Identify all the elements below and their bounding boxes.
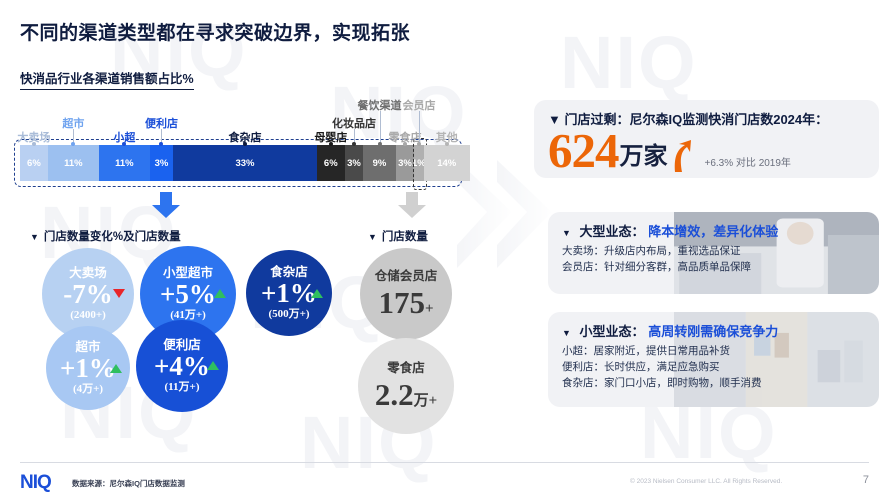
trend-up-icon [110, 364, 122, 373]
chart-subtitle: 快消品行业各渠道销售额占比% [20, 68, 194, 90]
bar-label-其他: 其他 [436, 129, 458, 145]
card-line: 食杂店：家门口小店，即时购物，顺手消费 [562, 376, 865, 392]
bar-segment-超市[interactable]: 11% [48, 145, 99, 181]
bar-segment-value: 3% [155, 158, 169, 169]
bubble-食杂店[interactable]: 食杂店+1%(500万+) [246, 250, 332, 336]
bubble-name: 大卖场 [69, 267, 107, 280]
label-connector-dot [159, 142, 163, 146]
bar-label-小超: 小超 [113, 129, 135, 145]
insight-card-large-format: ▼ 大型业态： 降本增效，差异化体验 大卖场：升级店内布局，重视选品保证 会员店… [548, 212, 879, 294]
bubble-name: 超市 [75, 341, 100, 354]
section-heading-store-count: ▼门店数量 [368, 228, 428, 244]
trend-up-icon [207, 361, 219, 370]
bar-segment-value: 33% [235, 158, 254, 169]
label-connector-dot [378, 142, 382, 146]
card-line: 会员店：针对细分客群，高品质单品保障 [562, 260, 865, 276]
bar-label-超市: 超市 [62, 115, 84, 131]
gray-bubble-unit: 万+ [414, 393, 438, 409]
bar-label-母婴店: 母婴店 [314, 129, 347, 145]
card-content-large-format: ▼ 大型业态： 降本增效，差异化体验 大卖场：升级店内布局，重视选品保证 会员店… [548, 212, 879, 285]
hero-note: +6.3% 对比 2019年 [705, 154, 791, 169]
hero-card-store-surplus: ▼ 门店过剩：尼尔森IQ监测快消门店数2024年： 624 万家 +6.3% 对… [534, 100, 879, 178]
bubble-value: -7% [63, 279, 113, 310]
hero-card-value-row: 624 万家 +6.3% 对比 2019年 [534, 128, 879, 175]
bar-segment-value: 3% [398, 158, 412, 169]
label-connector-dot [417, 142, 421, 146]
up-trend-arrow-icon [669, 139, 695, 173]
watermark-text: NIQ [560, 20, 698, 105]
bar-segment-小超[interactable]: 11% [99, 145, 150, 181]
bar-segment-value: 3% [347, 158, 361, 169]
bar-label-大卖场: 大卖场 [17, 129, 50, 145]
niq-logo: NIQ [20, 472, 51, 494]
bubble-value: +5% [160, 279, 216, 310]
trend-down-icon [113, 289, 125, 298]
bubble-便利店[interactable]: 便利店+4%(11万+) [136, 320, 228, 412]
bar-segment-化妆品店[interactable]: 3% [345, 145, 364, 181]
bubble-value: +1% [60, 353, 116, 384]
bar-label-食杂店: 食杂店 [229, 129, 262, 145]
label-connector-dot [352, 142, 356, 146]
bar-segment-value: 14% [437, 158, 456, 169]
bar-segment-餐饮渠道[interactable]: 9% [363, 145, 395, 181]
label-connector-line [419, 111, 420, 145]
gray-bubble-unit: + [425, 301, 434, 317]
bar-segment-其他[interactable]: 14% [424, 145, 470, 181]
bar-segment-value: 6% [27, 158, 41, 169]
bubble-sublabel: (500万+) [268, 309, 309, 320]
bubble-value: +4% [154, 351, 210, 382]
footer-divider [20, 462, 869, 463]
page-title: 不同的渠道类型都在寻求突破边界，实现拓张 [20, 18, 410, 45]
gray-bubble-零食店[interactable]: 零食店2.2万+ [358, 338, 454, 434]
footer-copyright: © 2023 Nielsen Consumer LLC. All Rights … [630, 478, 782, 485]
section-heading-store-change: ▼门店数量变化%及门店数量 [30, 228, 181, 244]
gray-bubble-name: 零食店 [387, 362, 425, 375]
label-connector-line [380, 111, 381, 145]
hero-unit: 万家 [620, 139, 668, 175]
bar-segment-会员店[interactable]: 1% [414, 145, 423, 181]
bar-segment-便利店[interactable]: 3% [150, 145, 173, 181]
trend-up-icon [311, 289, 323, 298]
bar-label-便利店: 便利店 [145, 115, 178, 131]
bar-label-餐饮渠道: 餐饮渠道 [358, 97, 402, 113]
bar-segment-value: 6% [324, 158, 338, 169]
caret-icon: ▼ [368, 232, 377, 242]
bubble-name: 食杂店 [270, 266, 308, 279]
bar-label-化妆品店: 化妆品店 [332, 115, 376, 131]
bubble-name: 便利店 [163, 339, 201, 352]
bar-segment-value: 11% [115, 158, 134, 169]
trend-up-icon [214, 289, 226, 298]
card-heading-large-format: ▼ 大型业态： 降本增效，差异化体验 [562, 221, 865, 240]
caret-icon: ▼ [30, 232, 39, 242]
bubble-超市[interactable]: 超市+1%(4万+) [46, 326, 130, 410]
gray-bubble-仓储会员店[interactable]: 仓储会员店175+ [360, 248, 452, 340]
bar-segment-母婴店[interactable]: 6% [317, 145, 345, 181]
bar-track: 6%11%11%3%33%6%3%9%3%1%14% [20, 145, 470, 181]
bar-segment-value: 9% [373, 158, 387, 169]
gray-bubble-value: 2.2万+ [375, 379, 437, 410]
hero-number: 624 [548, 128, 619, 175]
caret-icon: ▼ [562, 228, 571, 238]
gray-bubble-name: 仓储会员店 [375, 270, 438, 283]
card-line: 小超：居家附近，提供日常用品补货 [562, 344, 865, 360]
bar-segment-食杂店[interactable]: 33% [173, 145, 317, 181]
footer-source: 数据来源：尼尔森IQ门店数据监测 [72, 478, 185, 489]
bar-label-会员店: 会员店 [402, 97, 435, 113]
bar-chart-labels: 大卖场超市小超便利店食杂店母婴店化妆品店餐饮渠道零食店会员店其他 [20, 95, 480, 147]
bar-segment-value: 11% [64, 158, 83, 169]
card-line: 便利店：长时供应，满足应急购买 [562, 360, 865, 376]
bubble-sublabel: (11万+) [165, 382, 200, 393]
caret-icon: ▼ [562, 328, 571, 338]
bubble-sublabel: (2400+) [70, 310, 106, 321]
card-heading-small-format: ▼ 小型业态： 高周转刚需确保竞争力 [562, 321, 865, 340]
card-line: 大卖场：升级店内布局，重视选品保证 [562, 244, 865, 260]
bubble-value: +1% [261, 278, 317, 309]
stacked-bar-chart: 6%11%11%3%33%6%3%9%3%1%14% [20, 145, 470, 181]
footer-page-number: 7 [863, 474, 869, 486]
card-content-small-format: ▼ 小型业态： 高周转刚需确保竞争力 小超：居家附近，提供日常用品补货 便利店：… [548, 312, 879, 400]
label-connector-dot [71, 142, 75, 146]
insight-card-small-format: ▼ 小型业态： 高周转刚需确保竞争力 小超：居家附近，提供日常用品补货 便利店：… [548, 312, 879, 407]
bubble-name: 小型超市 [163, 267, 213, 280]
bar-segment-大卖场[interactable]: 6% [20, 145, 48, 181]
gray-bubble-value: 175+ [378, 287, 433, 318]
bubble-sublabel: (4万+) [73, 384, 103, 395]
